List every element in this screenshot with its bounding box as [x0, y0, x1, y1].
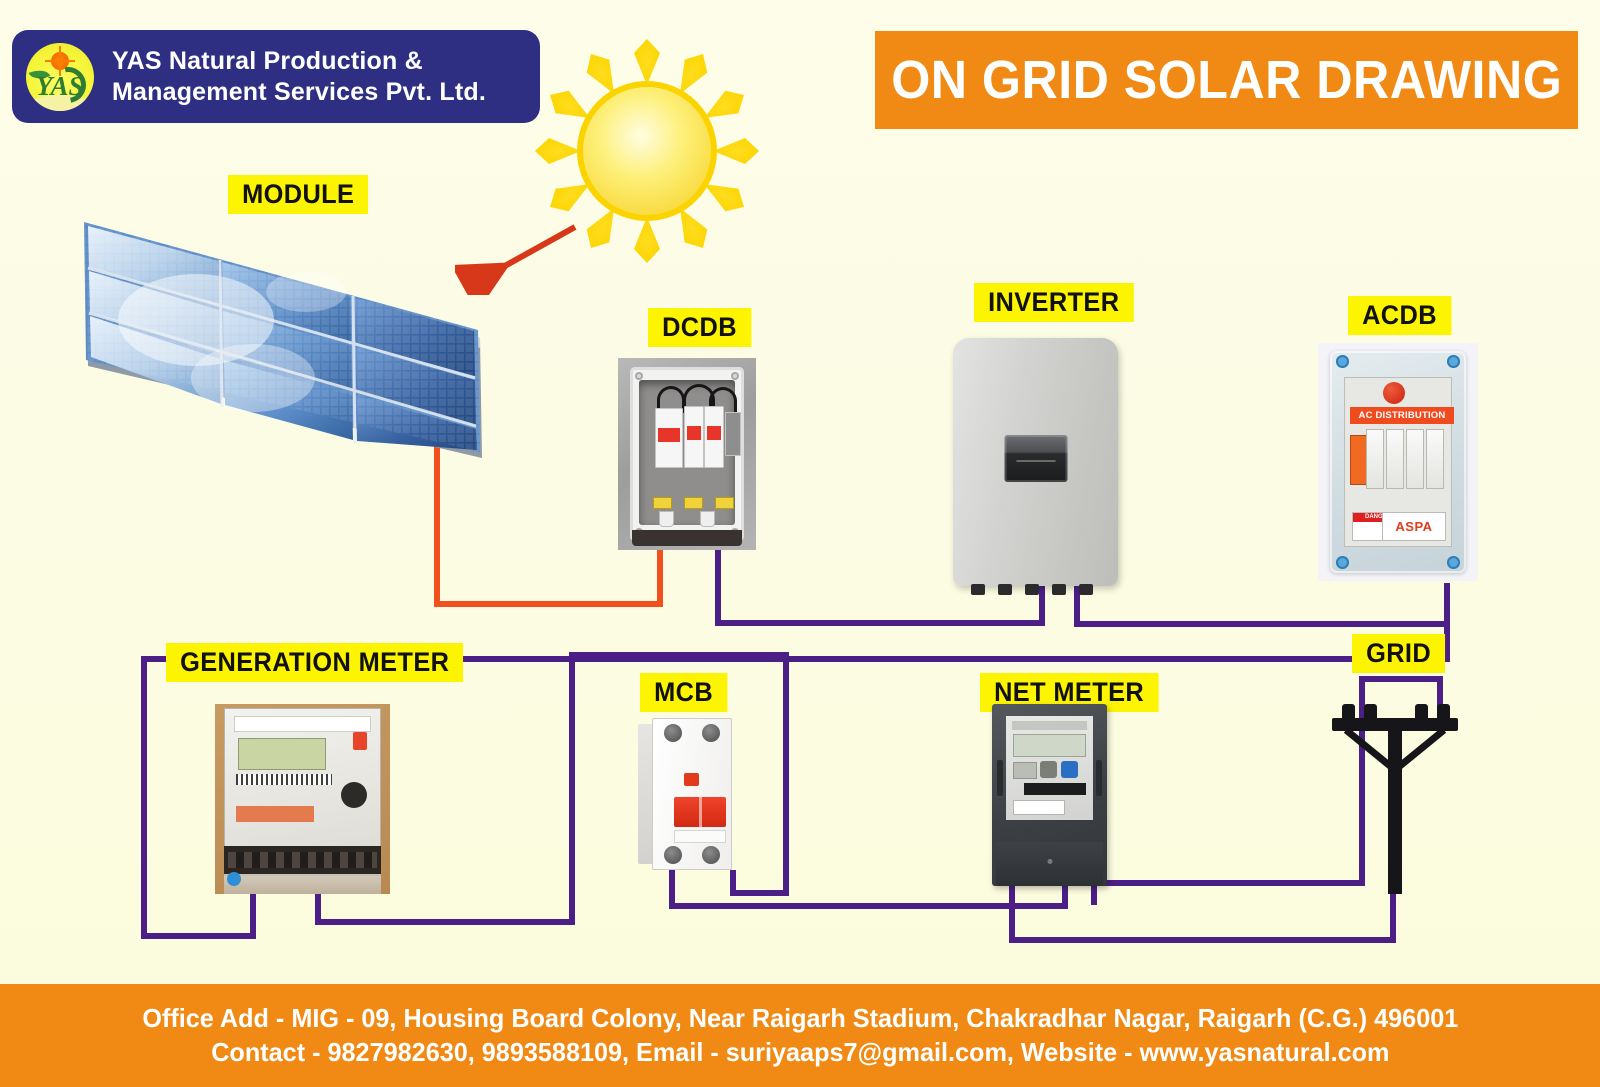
- logo-leaf-group: YAS: [26, 65, 94, 111]
- meter-barcode: [236, 774, 332, 785]
- net-meter-button-blue[interactable]: [1061, 761, 1078, 778]
- acdb-brand-label: ASPA: [1382, 512, 1446, 541]
- label-dcdb: DCDB: [648, 308, 751, 347]
- mcb-breaker: [638, 718, 732, 870]
- label-mcb: MCB: [640, 673, 727, 712]
- dcdb-base: [632, 530, 742, 546]
- mcb-brand-icon: [684, 773, 699, 786]
- acdb-breaker: [1426, 429, 1444, 489]
- footer-bar: Office Add - MIG - 09, Housing Board Col…: [0, 984, 1600, 1087]
- mcb-terminal: [702, 846, 720, 864]
- dcdb-gland: [659, 511, 674, 527]
- net-meter: [992, 704, 1107, 886]
- pole-insulator-icon: [1342, 704, 1355, 720]
- mcb-terminal: [702, 724, 720, 742]
- acdb-enclosure: AC DISTRIBUTION DANGER ASPA: [1330, 351, 1466, 573]
- net-meter-lcd-display: [1013, 734, 1086, 757]
- dcdb-enclosure: [630, 367, 744, 541]
- logo-swirl-icon: [43, 59, 93, 109]
- inverter-body: [953, 338, 1118, 586]
- acdb-box: AC DISTRIBUTION DANGER ASPA: [1318, 343, 1478, 581]
- meter-seal: [341, 782, 367, 808]
- net-meter-barcode: [1024, 783, 1086, 795]
- company-logo-icon: YAS: [26, 43, 94, 111]
- poster-title-banner: ON GRID SOLAR DRAWING: [875, 31, 1578, 129]
- mcb-terminal: [664, 846, 682, 864]
- acdb-latch: [1447, 355, 1460, 368]
- acdb-faceplate: AC DISTRIBUTION DANGER ASPA: [1344, 377, 1452, 547]
- poster-canvas: YAS YAS Natural Production & Management …: [0, 0, 1600, 1087]
- inverter-connector: [1025, 584, 1039, 595]
- inverter-display: [1004, 435, 1067, 482]
- net-meter-titlebar: [1012, 721, 1087, 730]
- net-meter-faceplate: [1006, 716, 1093, 820]
- company-name: YAS Natural Production & Management Serv…: [112, 46, 486, 107]
- acdb-breaker: [1406, 429, 1424, 489]
- dcdb-cavity: [639, 380, 735, 525]
- dcdb-gland: [700, 511, 715, 527]
- pole-insulator-icon: [1415, 704, 1428, 720]
- mcb-terminal: [664, 724, 682, 742]
- generation-meter: [215, 704, 390, 894]
- inverter-connector: [1052, 584, 1066, 595]
- net-meter-fin: [997, 760, 1003, 796]
- mcb-front-face: [652, 718, 732, 870]
- acdb-breaker: [1386, 429, 1404, 489]
- grid-utility-pole: [1330, 694, 1460, 894]
- mcb-rating-plate: [674, 830, 726, 843]
- inverter-connector: [998, 584, 1012, 595]
- dcdb-terminal: [653, 497, 672, 509]
- meter-indicator-icon: [353, 732, 367, 750]
- solar-inverter: [953, 338, 1118, 586]
- meter-seal-dot: [227, 872, 241, 886]
- acdb-breaker-row: [1366, 429, 1444, 489]
- dcdb-screw: [731, 372, 739, 380]
- dcdb-breaker: [655, 408, 683, 468]
- dcdb-box: [618, 358, 756, 550]
- company-name-line1: YAS Natural Production &: [112, 46, 486, 77]
- wire-inverter-to-acdb: [1077, 580, 1447, 624]
- acdb-distribution-label: AC DISTRIBUTION: [1350, 407, 1454, 424]
- pole-brace: [1344, 730, 1446, 774]
- net-meter-terminal-cover: [996, 842, 1103, 886]
- dcdb-spd: [725, 412, 741, 456]
- net-meter-body: [992, 704, 1107, 886]
- company-name-line2: Management Services Pvt. Ltd.: [112, 77, 486, 108]
- net-meter-fin: [1096, 760, 1102, 796]
- footer-address: Office Add - MIG - 09, Housing Board Col…: [142, 1003, 1458, 1034]
- footer-contact: Contact - 9827982630, 9893588109, Email …: [211, 1037, 1389, 1068]
- meter-terminal-block: [224, 846, 381, 876]
- net-meter-serial-label: [1013, 800, 1065, 815]
- meter-body: [224, 708, 381, 858]
- meter-warning-sticker: [236, 806, 314, 822]
- emergency-stop-icon: [1383, 382, 1405, 404]
- meter-nameplate: [234, 716, 371, 732]
- acdb-breaker: [1366, 429, 1384, 489]
- inverter-connector: [1079, 584, 1093, 595]
- solar-module: [78, 200, 498, 530]
- dcdb-terminal: [715, 497, 734, 509]
- label-inverter: INVERTER: [974, 283, 1134, 322]
- company-logo-badge: YAS YAS Natural Production & Management …: [12, 30, 540, 123]
- acdb-latch: [1336, 355, 1349, 368]
- label-grid: GRID: [1352, 634, 1445, 673]
- acdb-latch: [1336, 556, 1349, 569]
- net-meter-indicator: [1013, 762, 1037, 779]
- acdb-latch: [1447, 556, 1460, 569]
- label-generation-meter: GENERATION METER: [166, 643, 463, 682]
- dcdb-breaker: [684, 406, 704, 468]
- dcdb-screw: [635, 372, 643, 380]
- pole-insulator-icon: [1364, 704, 1377, 720]
- meter-lcd-display: [238, 738, 326, 770]
- net-meter-screw: [1047, 859, 1052, 864]
- inverter-connector: [971, 584, 985, 595]
- meter-terminal-cover: [224, 874, 381, 894]
- pole-insulator-icon: [1437, 704, 1450, 720]
- label-acdb: ACDB: [1348, 296, 1451, 335]
- net-meter-button[interactable]: [1040, 761, 1057, 778]
- poster-title: ON GRID SOLAR DRAWING: [891, 49, 1562, 111]
- dcdb-breaker: [704, 406, 724, 468]
- dcdb-terminal: [684, 497, 703, 509]
- mcb-toggle-lever[interactable]: [674, 797, 726, 827]
